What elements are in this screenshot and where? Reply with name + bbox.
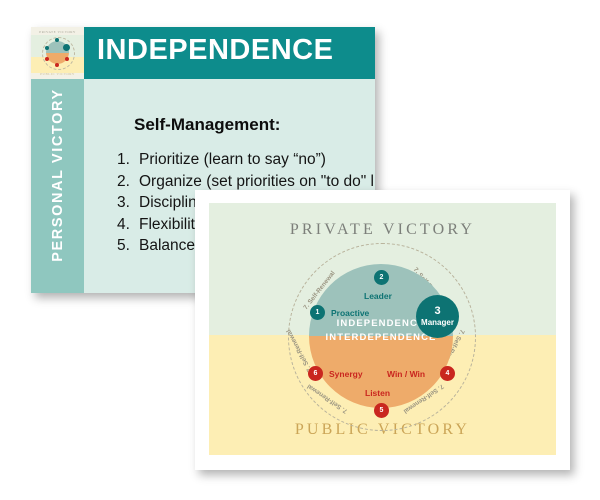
thumbnail-node-1 [45, 46, 49, 50]
screenshot-canvas: PRIVATE VICTORY PUBLIC VICTORY INDEPENDE… [0, 0, 600, 500]
habit-node-2[interactable]: 2 [374, 270, 389, 285]
habit-label-leader: Leader [364, 291, 392, 301]
habit-node-6-number: 6 [314, 370, 318, 377]
thumbnail-node-2 [55, 38, 59, 42]
list-item-text: Prioritize (learn to say “no”) [139, 149, 326, 171]
habit-node-5-number: 5 [380, 407, 384, 414]
section-heading: Self-Management: [134, 115, 280, 135]
habit-node-1-number: 1 [316, 309, 320, 316]
thumbnail-node-4 [65, 57, 69, 61]
habit-node-6[interactable]: 6 [308, 366, 323, 381]
thumbnail-private-label: PRIVATE VICTORY [31, 30, 84, 34]
thumbnail-node-3 [63, 44, 70, 51]
habit-node-1[interactable]: 1 [310, 305, 325, 320]
list-item: 1. Prioritize (learn to say “no”) [117, 149, 375, 171]
list-item-number: 5. [117, 235, 139, 257]
habit-label-synergy: Synergy [329, 369, 363, 379]
private-victory-label: PRIVATE VICTORY [209, 221, 556, 239]
list-item-number: 3. [117, 192, 139, 214]
list-item-text: Flexibility [139, 214, 203, 236]
habits-diagram: 7. Self-Renewal 7. Self-Renewal 7. Self-… [288, 243, 478, 433]
list-item-number: 1. [117, 149, 139, 171]
list-item-number: 2. [117, 171, 139, 193]
sidebar-item-label: PERSONAL VICTORY [50, 68, 66, 282]
habit-label-proactive: Proactive [331, 308, 369, 318]
habit-node-4-number: 4 [446, 370, 450, 377]
habit-node-2-number: 2 [380, 274, 384, 281]
page-title: INDEPENDENCE [97, 34, 333, 67]
diagram-canvas: PRIVATE VICTORY PUBLIC VICTORY 7. Self-R… [209, 203, 556, 455]
habit-label-win-win: Win / Win [387, 369, 425, 379]
list-item-text: Organize (set priorities on "to do" list… [139, 171, 375, 193]
slide-title-bar: INDEPENDENCE [84, 27, 375, 79]
habit-node-3-number: 3 [434, 306, 440, 317]
habit-node-5[interactable]: 5 [374, 403, 389, 418]
habit-label-manager: Manager [421, 319, 454, 327]
habit-label-listen: Listen [365, 388, 390, 398]
list-item-number: 4. [117, 214, 139, 236]
thumbnail-node-6 [45, 57, 49, 61]
list-item-text: Balance [139, 235, 195, 257]
habit-node-4[interactable]: 4 [440, 366, 455, 381]
list-item: 2. Organize (set priorities on "to do" l… [117, 171, 375, 193]
habit-node-3[interactable]: 3 Manager [416, 295, 459, 338]
thumbnail-node-5 [55, 63, 59, 67]
slide-sidebar: PERSONAL VICTORY [31, 79, 84, 293]
slide-seven-habits-diagram[interactable]: PRIVATE VICTORY PUBLIC VICTORY 7. Self-R… [195, 190, 570, 470]
